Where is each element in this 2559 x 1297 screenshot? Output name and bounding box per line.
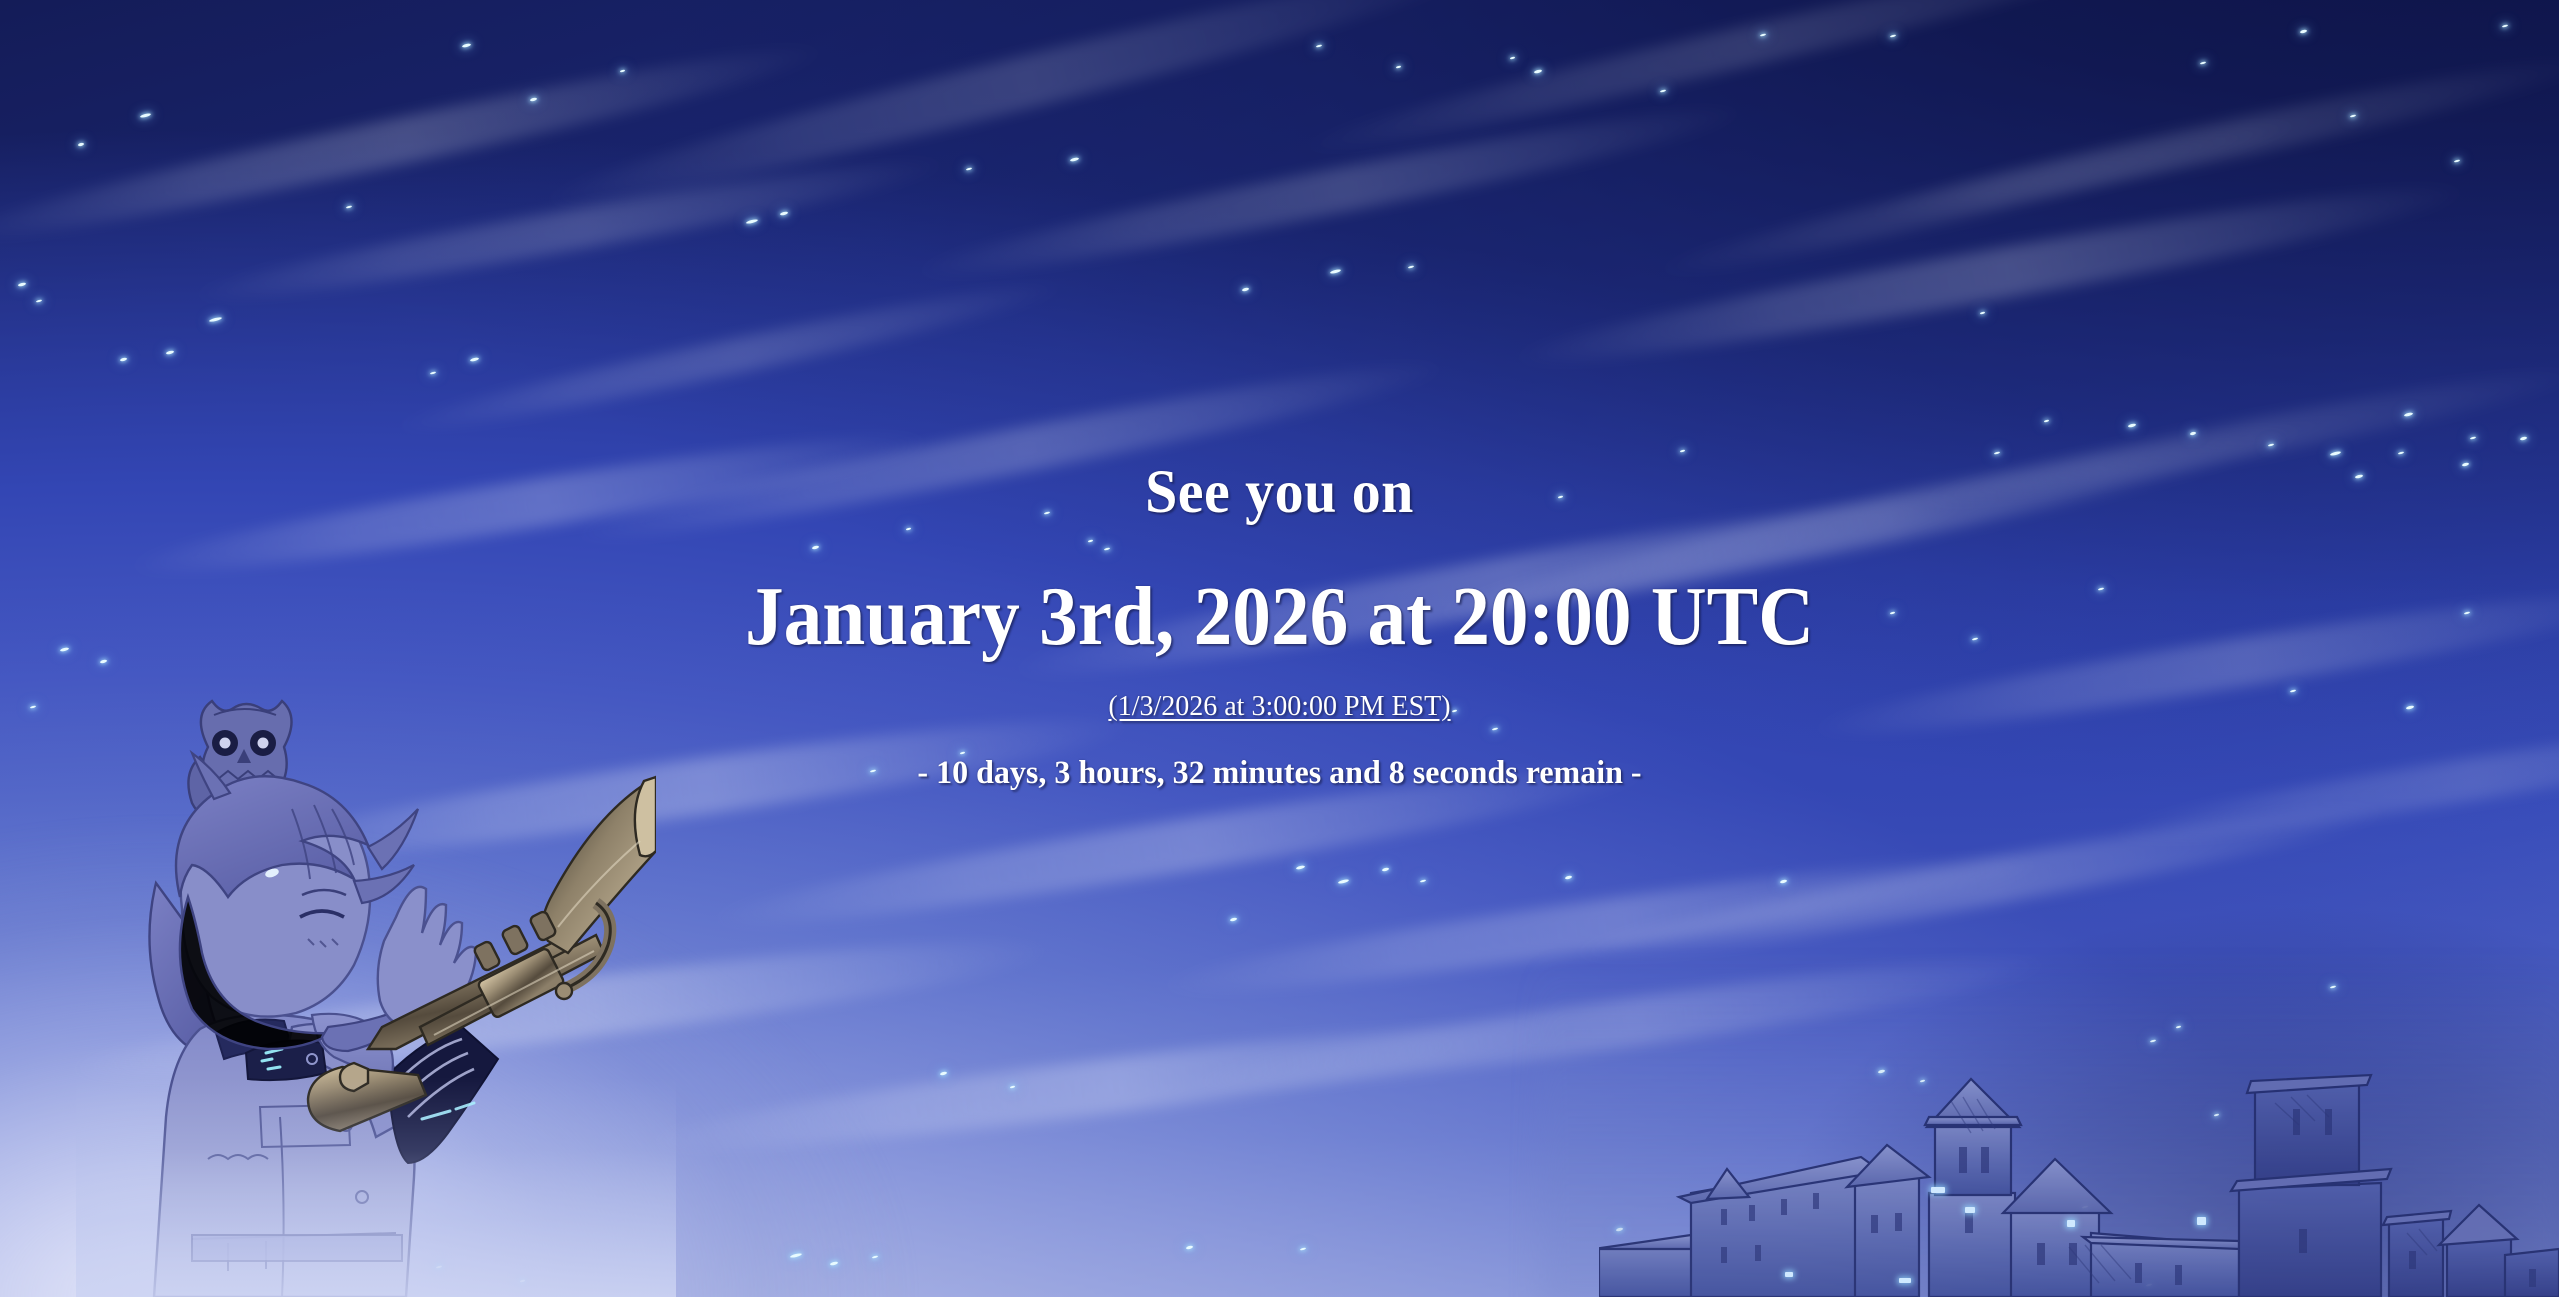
star <box>2330 451 2341 457</box>
star <box>2464 611 2470 614</box>
star <box>1186 1245 1194 1250</box>
star <box>1680 449 1685 452</box>
belt <box>192 1235 402 1261</box>
star <box>2470 436 2476 439</box>
local-time-note-text: (1/3/2026 at 3:00:00 PM EST) <box>1108 691 1450 722</box>
star <box>1492 727 1498 730</box>
star <box>1338 879 1349 885</box>
star <box>746 219 758 225</box>
star <box>1565 875 1573 880</box>
star <box>1396 65 1401 68</box>
star <box>2200 61 2206 64</box>
star <box>166 350 174 355</box>
star <box>940 1071 948 1076</box>
star <box>1760 33 1766 36</box>
star <box>1010 1085 1015 1088</box>
star <box>430 371 436 374</box>
star <box>1660 89 1666 92</box>
heading-intro: See you on <box>64 462 2495 523</box>
star <box>620 69 625 72</box>
star <box>2404 412 2413 417</box>
star <box>1510 56 1515 59</box>
star <box>1420 879 1426 882</box>
star <box>1980 311 1985 314</box>
star <box>1408 265 1414 268</box>
star <box>830 1261 838 1266</box>
star <box>906 527 911 530</box>
star <box>1994 451 2000 454</box>
countdown-screen: See you on January 3rd, 2026 at 20:00 UT… <box>0 0 2559 1297</box>
star <box>1890 34 1896 37</box>
star <box>18 282 26 287</box>
star <box>1070 157 1079 162</box>
town-window-light <box>2067 1220 2075 1227</box>
star <box>462 43 471 48</box>
star <box>1230 917 1238 922</box>
star <box>2502 24 2508 27</box>
star <box>1088 539 1093 542</box>
star <box>346 205 352 208</box>
star <box>1534 69 1542 74</box>
star <box>470 357 479 362</box>
star <box>1382 867 1390 872</box>
star <box>790 1253 802 1259</box>
star <box>2350 114 2356 117</box>
star <box>812 545 820 550</box>
countdown-timer: - 10 days, 3 hours, 32 minutes and 8 sec… <box>38 757 2520 790</box>
town-window-light <box>1899 1278 1911 1283</box>
star <box>140 113 151 119</box>
star <box>2454 159 2460 162</box>
star <box>1330 269 1341 275</box>
star <box>2398 451 2404 454</box>
town-window-light <box>1965 1207 1975 1213</box>
star <box>120 357 128 362</box>
star <box>209 316 222 322</box>
star <box>2128 423 2136 428</box>
town-window-light <box>1931 1187 1945 1193</box>
star <box>2190 431 2197 435</box>
star <box>530 97 538 102</box>
star <box>872 1255 878 1258</box>
star <box>1242 287 1250 292</box>
local-time-note: (1/3/2026 at 3:00:00 PM EST) <box>0 693 2559 721</box>
star <box>1104 547 1110 550</box>
town-buildings-illustration <box>1599 997 2559 1297</box>
star <box>1296 865 1305 870</box>
star <box>1780 879 1788 884</box>
star <box>2300 29 2308 34</box>
town-skyline <box>1599 997 2559 1297</box>
star <box>60 647 69 652</box>
star <box>2268 443 2274 446</box>
heading-event-datetime: January 3rd, 2026 at 20:00 UTC <box>102 575 2456 659</box>
star <box>780 211 788 216</box>
town-window-light <box>1785 1272 1793 1277</box>
star <box>2044 419 2049 422</box>
star <box>1316 44 1322 47</box>
town-window-light <box>2197 1217 2206 1225</box>
star <box>2520 436 2528 441</box>
star <box>78 142 85 146</box>
star <box>1300 1247 1306 1250</box>
star <box>36 299 42 302</box>
star <box>966 167 972 170</box>
